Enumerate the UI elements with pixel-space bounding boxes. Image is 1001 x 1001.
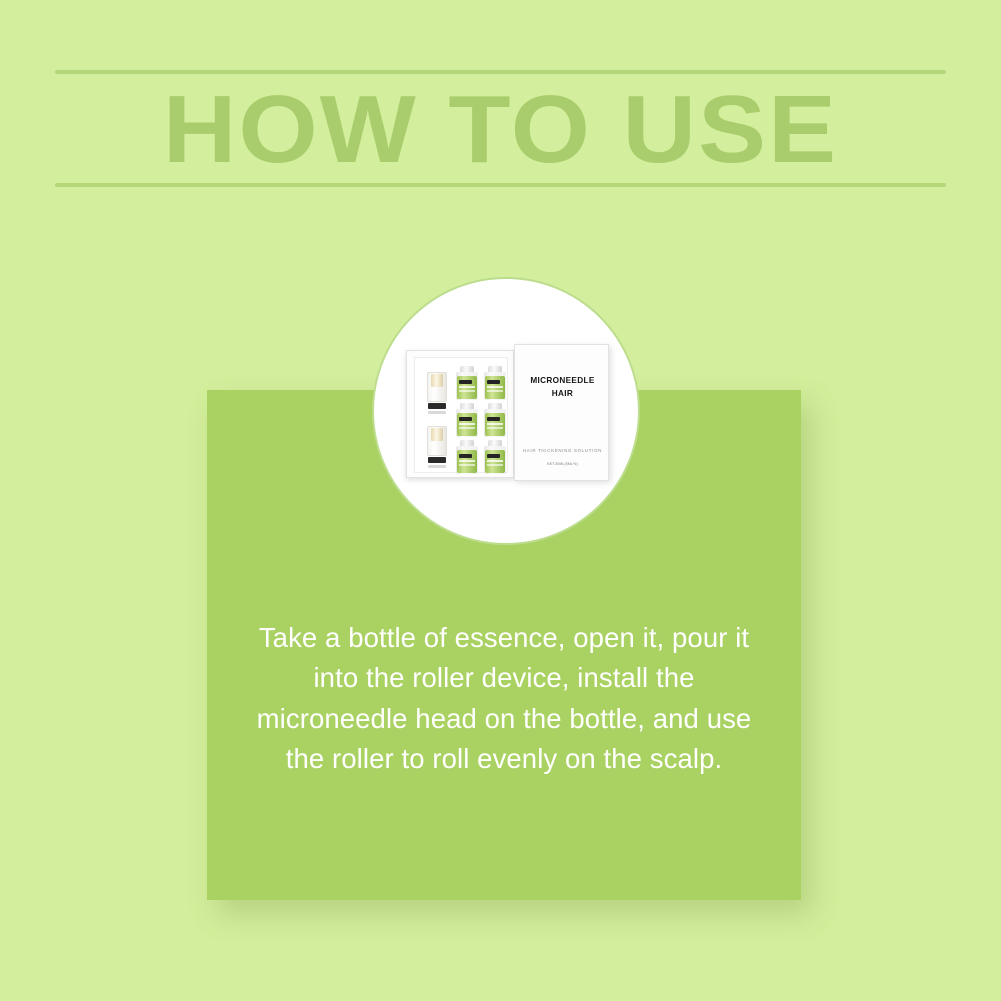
vial-text [459, 464, 475, 466]
page-title: HOW TO USE [28, 76, 972, 184]
roller-cap [431, 374, 443, 387]
vial-text [487, 464, 503, 466]
vial-tag [459, 454, 472, 458]
vial-tag [459, 417, 472, 421]
product-photo: MICRONEEDLE HAIR HAIR THICKENING SOLUTIO… [404, 344, 609, 481]
product-tray [414, 357, 508, 473]
product-brand-line-2: HAIR [515, 389, 610, 398]
essence-vial [484, 440, 506, 474]
essence-vial [456, 403, 478, 437]
vial-text [459, 386, 475, 388]
roller-label [428, 457, 446, 463]
roller-sublabel [428, 411, 446, 414]
vial-text [487, 460, 503, 462]
product-brand-line-1: MICRONEEDLE [515, 376, 610, 385]
vial-text [459, 460, 475, 462]
product-tagline: HAIR THICKENING SOLUTION [515, 448, 610, 453]
vial-tag [487, 417, 500, 421]
header: HOW TO USE [55, 70, 946, 190]
header-rule-bottom [55, 183, 946, 187]
essence-vial [456, 440, 478, 474]
vial-tag [487, 380, 500, 384]
instruction-text: Take a bottle of essence, open it, pour … [254, 618, 754, 780]
roller-device [427, 372, 447, 418]
vial-text [487, 386, 503, 388]
header-rule-top [55, 70, 946, 74]
product-box-left-half [406, 350, 514, 478]
essence-vial [484, 403, 506, 437]
vial-tag [459, 380, 472, 384]
vial-text [459, 427, 475, 429]
roller-label [428, 403, 446, 409]
product-image-circle: MICRONEEDLE HAIR HAIR THICKENING SOLUTIO… [372, 277, 640, 545]
vial-text [459, 423, 475, 425]
roller-sublabel [428, 465, 446, 468]
vial-text [487, 390, 503, 392]
vial-tag [487, 454, 500, 458]
product-box-right-half: MICRONEEDLE HAIR HAIR THICKENING SOLUTIO… [514, 344, 609, 481]
product-net-weight: NET:30ML(5ML*6) [515, 462, 610, 466]
vial-text [487, 423, 503, 425]
vial-text [487, 427, 503, 429]
essence-vial [456, 366, 478, 400]
roller-cap [431, 428, 443, 441]
essence-vial [484, 366, 506, 400]
roller-device [427, 426, 447, 472]
vial-text [459, 390, 475, 392]
